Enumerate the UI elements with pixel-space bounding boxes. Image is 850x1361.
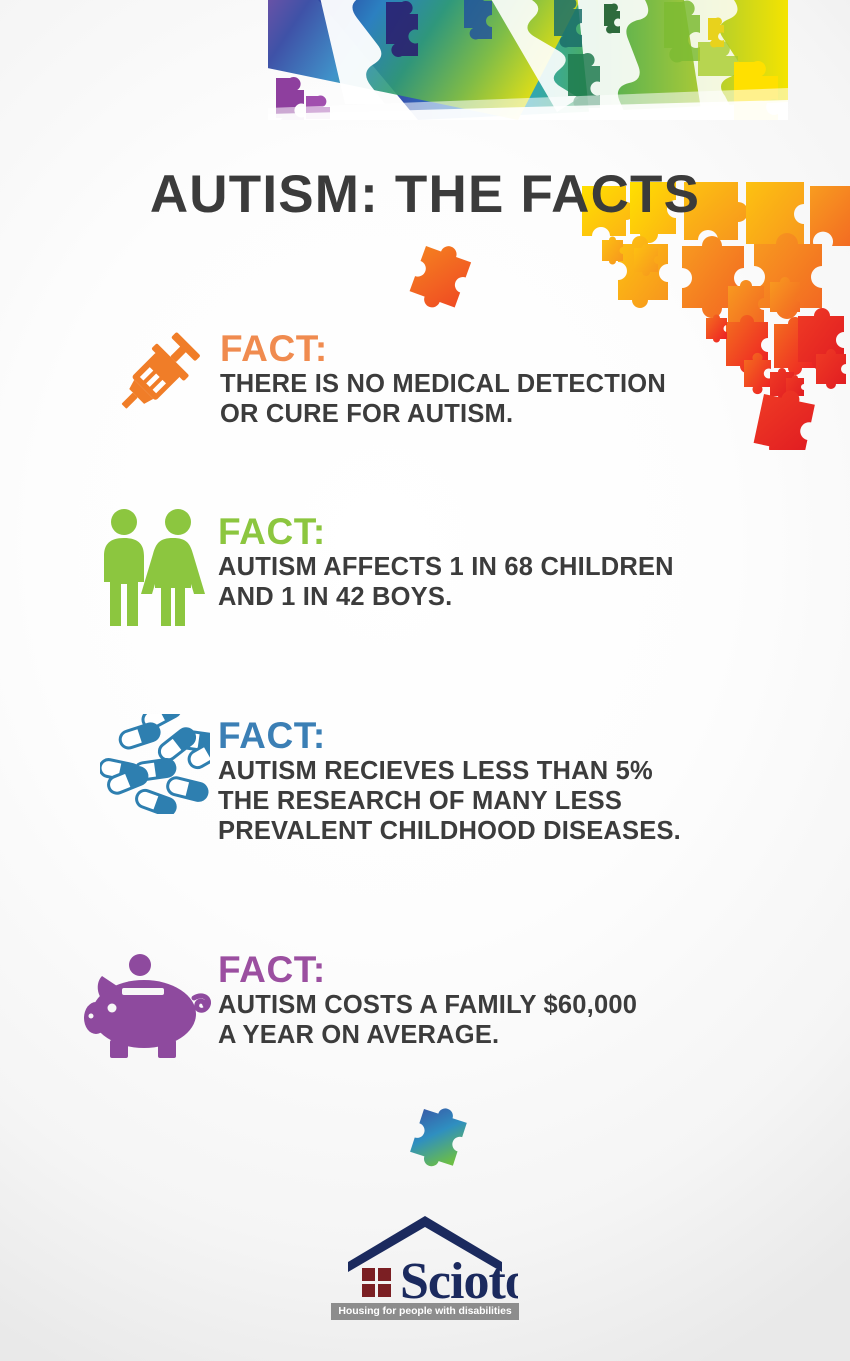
fact-text-block: FACT: AUTISM COSTS A FAMILY $60,000 A YE…	[218, 950, 637, 1050]
fact-kicker: FACT:	[218, 716, 681, 756]
page-title: AUTISM: THE FACTS	[0, 163, 850, 227]
fact-statement: THERE IS NO MEDICAL DETECTION OR CURE FO…	[220, 369, 666, 429]
fact-item-prevalence: FACT: AUTISM AFFECTS 1 IN 68 CHILDREN AN…	[96, 506, 796, 636]
fact-statement: AUTISM RECIEVES LESS THAN 5% THE RESEARC…	[218, 756, 681, 846]
fact-text-block: FACT: AUTISM AFFECTS 1 IN 68 CHILDREN AN…	[218, 512, 674, 612]
man-woman-icon	[96, 506, 208, 633]
piggy-bank-icon	[84, 952, 212, 1065]
fact-item-research-funding: FACT: AUTISM RECIEVES LESS THAN 5% THE R…	[100, 714, 810, 874]
brand-logo: Scioto Housing for people with disabilit…	[0, 1208, 850, 1320]
fact-text-block: FACT: THERE IS NO MEDICAL DETECTION OR C…	[220, 329, 666, 429]
pills-icon	[100, 714, 210, 819]
fact-item-medical-detection: FACT: THERE IS NO MEDICAL DETECTION OR C…	[104, 327, 804, 447]
fact-kicker: FACT:	[220, 329, 666, 369]
fact-text-block: FACT: AUTISM RECIEVES LESS THAN 5% THE R…	[218, 716, 681, 846]
puzzle-banner-decoration	[268, 0, 788, 120]
logo-tagline: Housing for people with disabilities	[331, 1303, 518, 1320]
puzzle-piece-blue-green-decoration	[408, 1103, 502, 1183]
scioto-house-logo-icon: Scioto	[332, 1208, 518, 1302]
infographic-poster: AUTISM: THE FACTS	[0, 0, 850, 1361]
fact-item-family-cost: FACT: AUTISM COSTS A FAMILY $60,000 A YE…	[84, 952, 794, 1082]
fact-statement: AUTISM COSTS A FAMILY $60,000 A YEAR ON …	[218, 990, 637, 1050]
puzzle-piece-orange-decoration	[404, 238, 516, 322]
fact-kicker: FACT:	[218, 950, 637, 990]
fact-statement: AUTISM AFFECTS 1 IN 68 CHILDREN AND 1 IN…	[218, 552, 674, 612]
syringe-icon	[104, 327, 204, 432]
svg-text:Scioto: Scioto	[400, 1253, 518, 1302]
fact-kicker: FACT:	[218, 512, 674, 552]
